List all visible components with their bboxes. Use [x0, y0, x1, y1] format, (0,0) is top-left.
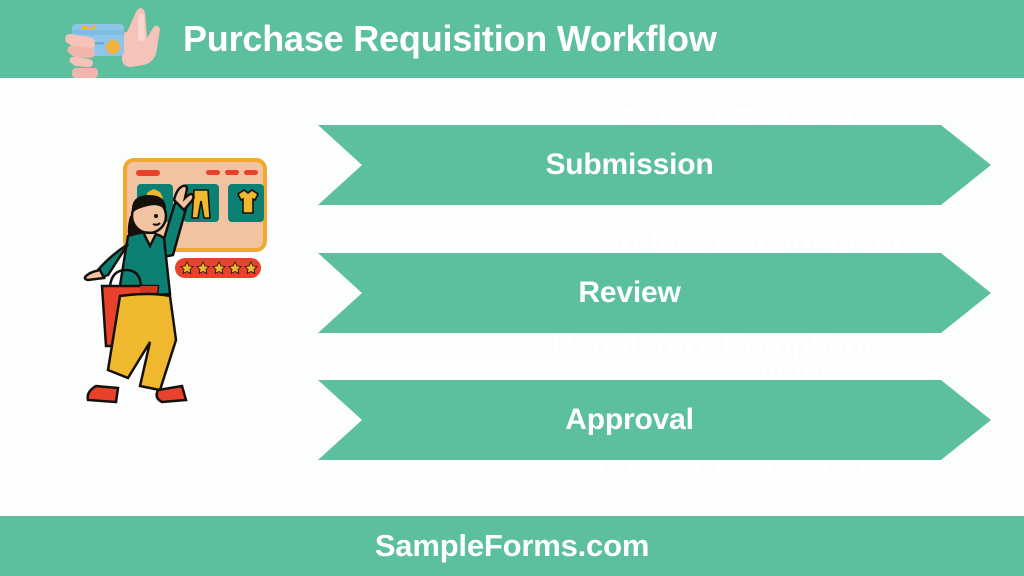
workflow-step-label: Review — [318, 276, 941, 310]
infographic-page: Purchase Requisition Workflow Formal Req… — [0, 0, 1024, 576]
footer-bar: SampleForms.com — [0, 516, 1024, 576]
header-bar: Purchase Requisition Workflow — [0, 0, 1024, 78]
hand-holding-credit-card-icon — [58, 2, 170, 78]
footer-brand: SampleForms.com — [375, 528, 649, 564]
workflow-step-review[interactable]: Review — [318, 253, 991, 333]
page-title: Purchase Requisition Workflow — [183, 0, 717, 78]
workflow-step-submission[interactable]: Submission — [318, 125, 991, 205]
main-content: Formal Request Budget Management Regulat… — [0, 78, 1024, 516]
workflow-step-label: Approval — [318, 403, 941, 437]
workflow-step-approval[interactable]: Approval — [318, 380, 991, 460]
workflow-step-label: Submission — [318, 148, 941, 182]
woman-shopping-online-illustration — [70, 118, 300, 418]
